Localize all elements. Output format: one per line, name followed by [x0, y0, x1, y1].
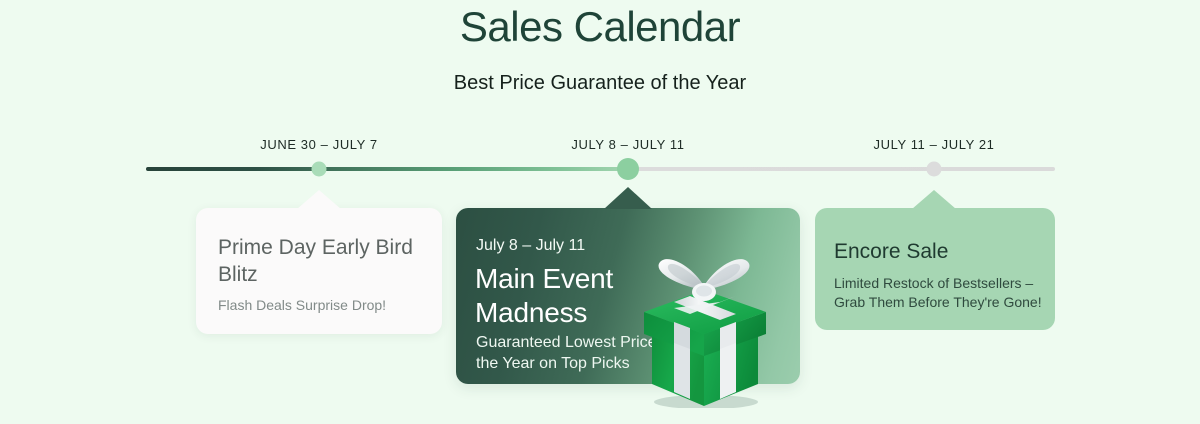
sales-calendar-banner: Sales Calendar Best Price Guarantee of t… [0, 0, 1200, 424]
timeline-node-3[interactable] [927, 162, 942, 177]
timeline-label-3: JULY 11 – JULY 21 [873, 136, 994, 154]
timeline [146, 166, 1055, 172]
card-main-event-dates: July 8 – July 11 [476, 235, 585, 257]
card-early-bird-subtitle: Flash Deals Surprise Drop! [218, 296, 386, 315]
page-subtitle: Best Price Guarantee of the Year [0, 69, 1200, 97]
card-encore-title: Encore Sale [834, 238, 948, 265]
card-pointer-icon [297, 190, 341, 209]
card-main-event-title: Main Event Madness [475, 262, 705, 330]
timeline-label-1: JUNE 30 – JULY 7 [260, 136, 378, 154]
page-title: Sales Calendar [0, 2, 1200, 52]
card-early-bird-title: Prime Day Early Bird Blitz [218, 234, 418, 288]
timeline-node-1[interactable] [312, 162, 327, 177]
card-pointer-icon [604, 187, 652, 209]
card-pointer-icon [912, 190, 956, 209]
card-encore-sale[interactable]: Encore Sale Limited Restock of Bestselle… [815, 208, 1055, 330]
card-main-event-subtitle: Guaranteed Lowest Prices of the Year on … [476, 332, 696, 374]
card-encore-subtitle: Limited Restock of Bestsellers – Grab Th… [834, 274, 1049, 312]
timeline-node-2-active[interactable] [617, 158, 639, 180]
card-main-event[interactable]: July 8 – July 11 Main Event Madness Guar… [456, 208, 800, 384]
card-early-bird[interactable]: Prime Day Early Bird Blitz Flash Deals S… [196, 208, 442, 334]
timeline-label-2: JULY 8 – JULY 11 [571, 136, 684, 154]
timeline-track [146, 167, 1055, 171]
